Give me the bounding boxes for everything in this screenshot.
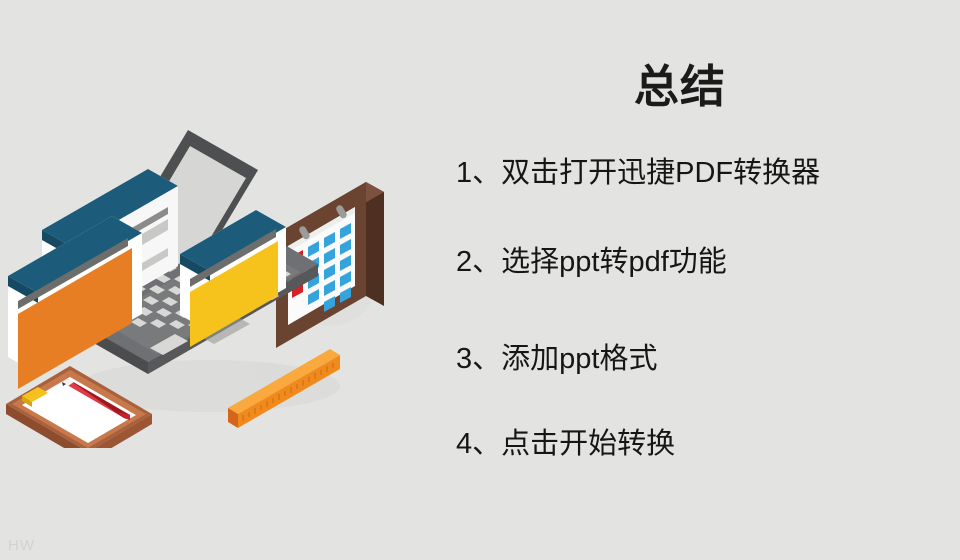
list-item: 2、选择ppt转pdf功能 (456, 247, 946, 279)
page-title: 总结 (430, 63, 930, 112)
list-item: 4、点击开始转换 (456, 429, 946, 461)
list-item-label: 添加ppt格式 (501, 343, 657, 375)
list-item-index: 3、 (456, 343, 501, 375)
list-item-label: 点击开始转换 (501, 428, 675, 460)
text-content-column: 总结 1、双击打开迅捷PDF转换器 2、选择ppt转pdf功能 3、添加ppt格… (430, 0, 950, 560)
list-item: 1、双击打开迅捷PDF转换器 (456, 158, 946, 190)
floating-window-orange (8, 216, 142, 389)
list-item-label: 双击打开迅捷PDF转换器 (501, 157, 820, 189)
summary-steps-list: 1、双击打开迅捷PDF转换器 2、选择ppt转pdf功能 3、添加ppt格式 4… (456, 158, 946, 461)
watermark-label: HW (8, 537, 35, 554)
isometric-workspace-illustration (0, 118, 420, 448)
slide-canvas: 总结 1、双击打开迅捷PDF转换器 2、选择ppt转pdf功能 3、添加ppt格… (0, 0, 960, 560)
list-item-label: 选择ppt转pdf功能 (501, 246, 727, 278)
list-item-index: 2、 (456, 246, 501, 278)
list-item-index: 1、 (456, 157, 501, 189)
list-item: 3、添加ppt格式 (456, 344, 946, 376)
list-item-index: 4、 (456, 428, 501, 460)
